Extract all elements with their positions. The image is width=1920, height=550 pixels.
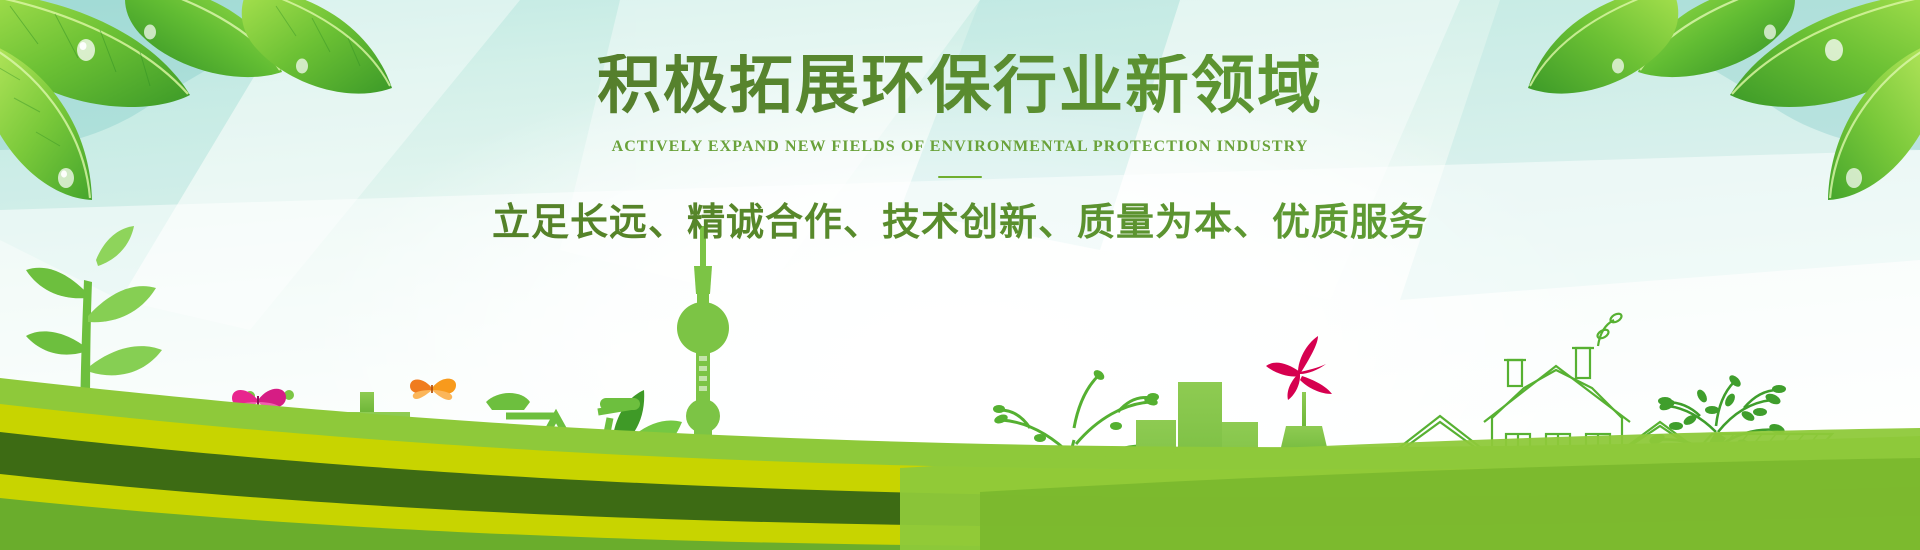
tagline: 立足长远、精诚合作、技术创新、质量为本、优质服务 [0, 200, 1920, 244]
page-title: 积极拓展环保行业新领域 [0, 54, 1920, 118]
banner-copy: 积极拓展环保行业新领域 ACTIVELY EXPAND NEW FIELDS O… [0, 54, 1920, 244]
divider [938, 176, 982, 178]
eco-banner: 积极拓展环保行业新领域 ACTIVELY EXPAND NEW FIELDS O… [0, 0, 1920, 550]
subtitle-english: ACTIVELY EXPAND NEW FIELDS OF ENVIRONMEN… [0, 138, 1920, 156]
ribbon-bands-icon [0, 340, 1920, 550]
